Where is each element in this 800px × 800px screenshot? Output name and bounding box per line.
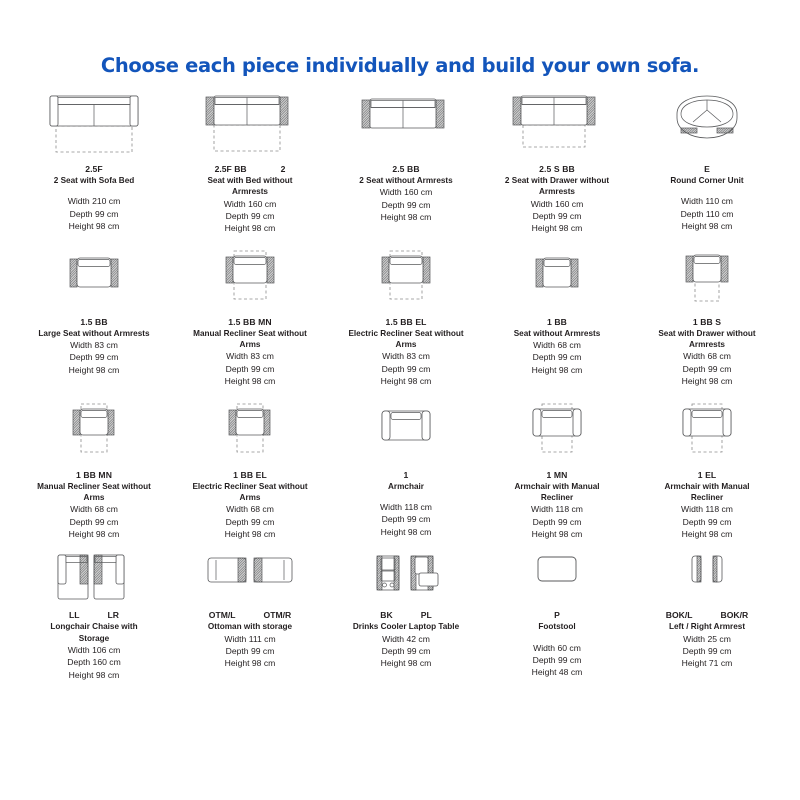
dimension-line: Height 98 cm <box>482 528 632 540</box>
sofa-configurator-page: Choose each piece individually and build… <box>0 0 800 800</box>
dimension-line: Height 98 cm <box>482 364 632 376</box>
module-diagram-sofa-2seat-bed <box>44 88 144 164</box>
module-dimensions: Width 25 cmDepth 99 cmHeight 71 cm <box>632 633 782 670</box>
module-dimensions: Width 160 cmDepth 99 cmHeight 98 cm <box>170 198 330 235</box>
module-diagram-seat-large-noarms <box>64 247 124 317</box>
module-diagram-armchair-recliner <box>529 400 585 470</box>
module-labels: 2.5 S BB2 Seat with Drawer without Armre… <box>482 164 632 235</box>
module-code: 1.5 BB MN <box>170 317 330 328</box>
dimension-line: Height 98 cm <box>482 222 632 234</box>
product-row: 1.5 BBLarge Seat without ArmrestsWidth 8… <box>18 247 782 388</box>
module-dimensions: Width 111 cmDepth 99 cmHeight 98 cm <box>170 633 330 670</box>
product-cell[interactable]: BKPLDrinks Cooler Laptop TableWidth 42 c… <box>330 552 482 681</box>
module-code: 2.5F <box>18 164 170 175</box>
dimension-line: Height 98 cm <box>18 220 170 232</box>
product-cell[interactable]: ERound Corner UnitWidth 110 cmDepth 110 … <box>632 88 782 235</box>
module-description: 2 Seat with Sofa Bed <box>36 175 152 186</box>
module-code-left: BOK/L <box>666 610 693 621</box>
dimension-line: Depth 99 cm <box>632 645 782 657</box>
module-dimensions: Width 68 cmDepth 99 cmHeight 98 cm <box>482 339 632 376</box>
module-description: Seat with Bed without Armrests <box>192 175 308 198</box>
module-diagram-longchair-pair <box>56 552 132 610</box>
product-cell[interactable]: 2.5 S BB2 Seat with Drawer without Armre… <box>482 88 632 235</box>
module-dimensions: Width 160 cmDepth 99 cmHeight 98 cm <box>330 186 482 223</box>
module-diagram-ottoman-pair <box>206 552 294 610</box>
module-dimensions: Width 60 cmDepth 99 cmHeight 48 cm <box>482 642 632 679</box>
dimension-line: Width 83 cm <box>18 339 170 351</box>
dimension-line: Height 98 cm <box>18 528 170 540</box>
module-dimensions: Width 110 cmDepth 110 cmHeight 98 cm <box>632 195 782 232</box>
dimension-line: Height 98 cm <box>170 222 330 234</box>
product-cell[interactable]: 1.5 BBLarge Seat without ArmrestsWidth 8… <box>18 247 170 388</box>
module-labels: 1 MNArmchair with Manual ReclinerWidth 1… <box>482 470 632 541</box>
module-diagram-sofa-2seat-noarms <box>358 88 454 164</box>
dimension-line: Width 110 cm <box>632 195 782 207</box>
module-diagram-seat-single-noarms <box>531 247 583 317</box>
module-labels: ERound Corner UnitWidth 110 cmDepth 110 … <box>632 164 782 232</box>
module-labels: 2.5F2 Seat with Sofa BedWidth 210 cmDept… <box>18 164 170 232</box>
dimension-line: Width 160 cm <box>482 198 632 210</box>
module-labels: PFootstoolWidth 60 cmDepth 99 cmHeight 4… <box>482 610 632 678</box>
module-code: 2.5 BB <box>330 164 482 175</box>
module-code-left: OTM/L <box>209 610 236 621</box>
module-dimensions: Width 160 cmDepth 99 cmHeight 98 cm <box>482 198 632 235</box>
dimension-line: Width 118 cm <box>330 501 482 513</box>
module-code: 2.5 S BB <box>482 164 632 175</box>
dimension-line: Depth 99 cm <box>330 363 482 375</box>
dimension-line: Depth 99 cm <box>18 516 170 528</box>
module-description: Armchair <box>348 481 464 492</box>
module-description: Drinks Cooler Laptop Table <box>348 621 464 632</box>
dimension-line: Depth 110 cm <box>632 208 782 220</box>
module-dimensions: Width 118 cmDepth 99 cmHeight 98 cm <box>330 501 482 538</box>
module-description: Ottoman with storage <box>192 621 308 632</box>
product-cell[interactable]: 2.5F2 Seat with Sofa BedWidth 210 cmDept… <box>18 88 170 235</box>
module-code-right: PL <box>421 610 432 621</box>
product-cell[interactable]: PFootstoolWidth 60 cmDepth 99 cmHeight 4… <box>482 552 632 681</box>
module-labels: 1 BB ELElectric Recliner Seat without Ar… <box>170 470 330 541</box>
dimension-line: Height 98 cm <box>330 657 482 669</box>
module-dimensions: Width 210 cmDepth 99 cmHeight 98 cm <box>18 195 170 232</box>
module-labels: BKPLDrinks Cooler Laptop TableWidth 42 c… <box>330 610 482 669</box>
product-row: LLLRLongchair Chaise with StorageWidth 1… <box>18 552 782 681</box>
module-code: 1.5 BB EL <box>330 317 482 328</box>
module-diagram-footstool <box>534 552 580 610</box>
dimension-line: Depth 99 cm <box>482 516 632 528</box>
product-cell[interactable]: LLLRLongchair Chaise with StorageWidth 1… <box>18 552 170 681</box>
module-labels: 1ArmchairWidth 118 cmDepth 99 cmHeight 9… <box>330 470 482 538</box>
dimension-line: Depth 99 cm <box>482 654 632 666</box>
module-labels: LLLRLongchair Chaise with StorageWidth 1… <box>18 610 170 681</box>
module-code: 1 <box>330 470 482 481</box>
dimension-line: Height 98 cm <box>330 211 482 223</box>
dimension-line: Width 111 cm <box>170 633 330 645</box>
module-description: Armchair with Manual Recliner <box>649 481 765 504</box>
product-cell[interactable]: 1 BB ELElectric Recliner Seat without Ar… <box>170 400 330 541</box>
product-cell[interactable]: 1 BB SSeat with Drawer without ArmrestsW… <box>632 247 782 388</box>
module-labels: 1 BB MNManual Recliner Seat without Arms… <box>18 470 170 541</box>
module-diagram-seat-large-recliner <box>220 247 280 317</box>
dimension-line: Depth 99 cm <box>330 513 482 525</box>
dimension-line: Depth 99 cm <box>482 351 632 363</box>
module-dimensions: Width 42 cmDepth 99 cmHeight 98 cm <box>330 633 482 670</box>
dimension-line: Width 42 cm <box>330 633 482 645</box>
module-description: Manual Recliner Seat without Arms <box>192 328 308 351</box>
dimension-line: Depth 99 cm <box>632 516 782 528</box>
dimension-line: Width 25 cm <box>632 633 782 645</box>
dimension-line: Depth 99 cm <box>482 210 632 222</box>
module-code-pair: BOK/LBOK/R <box>632 610 782 621</box>
product-cell[interactable]: OTM/LOTM/ROttoman with storageWidth 111 … <box>170 552 330 681</box>
page-title: Choose each piece individually and build… <box>0 54 800 77</box>
product-cell[interactable]: 1 ELArmchair with Manual ReclinerWidth 1… <box>632 400 782 541</box>
module-dimensions: Width 118 cmDepth 99 cmHeight 98 cm <box>482 503 632 540</box>
module-description: Seat with Drawer without Armrests <box>649 328 765 351</box>
module-description: Longchair Chaise with Storage <box>36 621 152 644</box>
dimension-line: Depth 99 cm <box>170 645 330 657</box>
module-dimensions: Width 118 cmDepth 99 cmHeight 98 cm <box>632 503 782 540</box>
product-cell[interactable]: BOK/LBOK/RLeft / Right ArmrestWidth 25 c… <box>632 552 782 681</box>
module-labels: 1 ELArmchair with Manual ReclinerWidth 1… <box>632 470 782 541</box>
dimension-line: Depth 99 cm <box>170 210 330 222</box>
product-cell[interactable]: 1.5 BB MNManual Recliner Seat without Ar… <box>170 247 330 388</box>
product-row: 1 BB MNManual Recliner Seat without Arms… <box>18 400 782 541</box>
module-description: 2 Seat with Drawer without Armrests <box>499 175 615 198</box>
module-labels: BOK/LBOK/RLeft / Right ArmrestWidth 25 c… <box>632 610 782 669</box>
dimension-line: Height 98 cm <box>632 375 782 387</box>
dimension-line: Height 98 cm <box>170 528 330 540</box>
module-description: Manual Recliner Seat without Arms <box>36 481 152 504</box>
module-description: Armchair with Manual Recliner <box>499 481 615 504</box>
module-code: 1 EL <box>632 470 782 481</box>
module-diagram-sofa-2seat-drawer-noarms <box>509 88 605 164</box>
module-code-right: OTM/R <box>264 610 292 621</box>
dimension-line: Height 98 cm <box>632 220 782 232</box>
module-code-suffix: 2 <box>281 164 286 175</box>
dimension-line: Height 98 cm <box>18 364 170 376</box>
module-labels: 1 BB SSeat with Drawer without ArmrestsW… <box>632 317 782 388</box>
dimension-line: Width 160 cm <box>330 186 482 198</box>
module-diagram-armrest-pair <box>684 552 730 610</box>
module-diagram-cooler-laptop-pair <box>373 552 439 610</box>
dimension-line: Width 68 cm <box>170 503 330 515</box>
dimension-line: Height 98 cm <box>330 375 482 387</box>
module-description: Seat without Armrests <box>499 328 615 339</box>
module-dimensions: Width 68 cmDepth 99 cmHeight 98 cm <box>632 350 782 387</box>
dimension-line: Height 98 cm <box>170 375 330 387</box>
module-diagram-sofa-2seat-bed-noarms <box>202 88 298 164</box>
module-code: 2.5F BB <box>215 164 247 175</box>
module-diagram-armchair <box>378 400 434 470</box>
module-code-pair: BKPL <box>330 610 482 621</box>
product-cell[interactable]: 2.5 BB2 Seat without ArmrestsWidth 160 c… <box>330 88 482 235</box>
module-description: Round Corner Unit <box>649 175 765 186</box>
dimension-line: Height 98 cm <box>632 528 782 540</box>
product-grid: 2.5F2 Seat with Sofa BedWidth 210 cmDept… <box>18 88 782 681</box>
module-code: 1 MN <box>482 470 632 481</box>
module-description: Electric Recliner Seat without Arms <box>192 481 308 504</box>
dimension-line: Width 118 cm <box>632 503 782 515</box>
module-diagram-seat-single-recliner <box>224 400 276 470</box>
module-labels: 2.5 BB2 Seat without ArmrestsWidth 160 c… <box>330 164 482 223</box>
module-description: Electric Recliner Seat without Arms <box>348 328 464 351</box>
dimension-line: Width 83 cm <box>330 350 482 362</box>
dimension-line: Width 210 cm <box>18 195 170 207</box>
dimension-line: Depth 99 cm <box>170 363 330 375</box>
dimension-line: Depth 99 cm <box>170 516 330 528</box>
module-code-right: LR <box>108 610 119 621</box>
module-dimensions: Width 83 cmDepth 99 cmHeight 98 cm <box>18 339 170 376</box>
module-description: Large Seat without Armrests <box>36 328 152 339</box>
dimension-line: Width 60 cm <box>482 642 632 654</box>
module-code-row: 2.5F BB2 <box>170 164 330 175</box>
dimension-line: Width 118 cm <box>482 503 632 515</box>
dimension-line: Width 68 cm <box>482 339 632 351</box>
module-code: E <box>632 164 782 175</box>
module-diagram-armchair-recliner <box>679 400 735 470</box>
module-code: 1 BB S <box>632 317 782 328</box>
module-code: 1 BB EL <box>170 470 330 481</box>
dimension-line: Height 48 cm <box>482 666 632 678</box>
module-diagram-round-corner-unit <box>667 88 747 164</box>
module-dimensions: Width 106 cmDepth 160 cmHeight 98 cm <box>18 644 170 681</box>
product-cell[interactable]: 1.5 BB ELElectric Recliner Seat without … <box>330 247 482 388</box>
dimension-line: Width 160 cm <box>170 198 330 210</box>
dimension-line: Width 68 cm <box>18 503 170 515</box>
module-code-pair: OTM/LOTM/R <box>170 610 330 621</box>
dimension-line: Height 98 cm <box>170 657 330 669</box>
dimension-line: Depth 99 cm <box>330 645 482 657</box>
module-dimensions: Width 83 cmDepth 99 cmHeight 98 cm <box>330 350 482 387</box>
module-description: Footstool <box>499 621 615 632</box>
module-labels: 1.5 BB ELElectric Recliner Seat without … <box>330 317 482 388</box>
module-labels: 1.5 BB MNManual Recliner Seat without Ar… <box>170 317 330 388</box>
dimension-line: Width 83 cm <box>170 350 330 362</box>
module-code: 1 BB MN <box>18 470 170 481</box>
product-cell[interactable]: 1 BB MNManual Recliner Seat without Arms… <box>18 400 170 541</box>
module-code: 1 BB <box>482 317 632 328</box>
dimension-line: Depth 99 cm <box>632 363 782 375</box>
dimension-line: Height 71 cm <box>632 657 782 669</box>
dimension-line: Depth 99 cm <box>330 199 482 211</box>
module-diagram-seat-single-drawer <box>681 247 733 317</box>
module-labels: 1.5 BBLarge Seat without ArmrestsWidth 8… <box>18 317 170 376</box>
module-dimensions: Width 68 cmDepth 99 cmHeight 98 cm <box>18 503 170 540</box>
dimension-line: Depth 160 cm <box>18 656 170 668</box>
dimension-line: Width 106 cm <box>18 644 170 656</box>
product-cell[interactable]: 1ArmchairWidth 118 cmDepth 99 cmHeight 9… <box>330 400 482 541</box>
module-code-left: BK <box>380 610 392 621</box>
module-code-right: BOK/R <box>721 610 749 621</box>
module-code-left: LL <box>69 610 80 621</box>
dimension-line: Depth 99 cm <box>18 208 170 220</box>
module-diagram-seat-large-recliner <box>376 247 436 317</box>
module-code: 1.5 BB <box>18 317 170 328</box>
module-dimensions: Width 83 cmDepth 99 cmHeight 98 cm <box>170 350 330 387</box>
module-labels: OTM/LOTM/ROttoman with storageWidth 111 … <box>170 610 330 669</box>
module-code: P <box>482 610 632 621</box>
module-code-pair: LLLR <box>18 610 170 621</box>
module-labels: 1 BBSeat without ArmrestsWidth 68 cmDept… <box>482 317 632 376</box>
product-cell[interactable]: 2.5F BB2Seat with Bed without ArmrestsWi… <box>170 88 330 235</box>
product-row: 2.5F2 Seat with Sofa BedWidth 210 cmDept… <box>18 88 782 235</box>
dimension-line: Height 98 cm <box>18 669 170 681</box>
module-description: Left / Right Armrest <box>649 621 765 632</box>
dimension-line: Height 98 cm <box>330 526 482 538</box>
product-cell[interactable]: 1 BBSeat without ArmrestsWidth 68 cmDept… <box>482 247 632 388</box>
module-labels: 2.5F BB2Seat with Bed without ArmrestsWi… <box>170 164 330 235</box>
product-cell[interactable]: 1 MNArmchair with Manual ReclinerWidth 1… <box>482 400 632 541</box>
dimension-line: Depth 99 cm <box>18 351 170 363</box>
module-dimensions: Width 68 cmDepth 99 cmHeight 98 cm <box>170 503 330 540</box>
module-diagram-seat-single-recliner <box>68 400 120 470</box>
dimension-line: Width 68 cm <box>632 350 782 362</box>
module-description: 2 Seat without Armrests <box>348 175 464 186</box>
